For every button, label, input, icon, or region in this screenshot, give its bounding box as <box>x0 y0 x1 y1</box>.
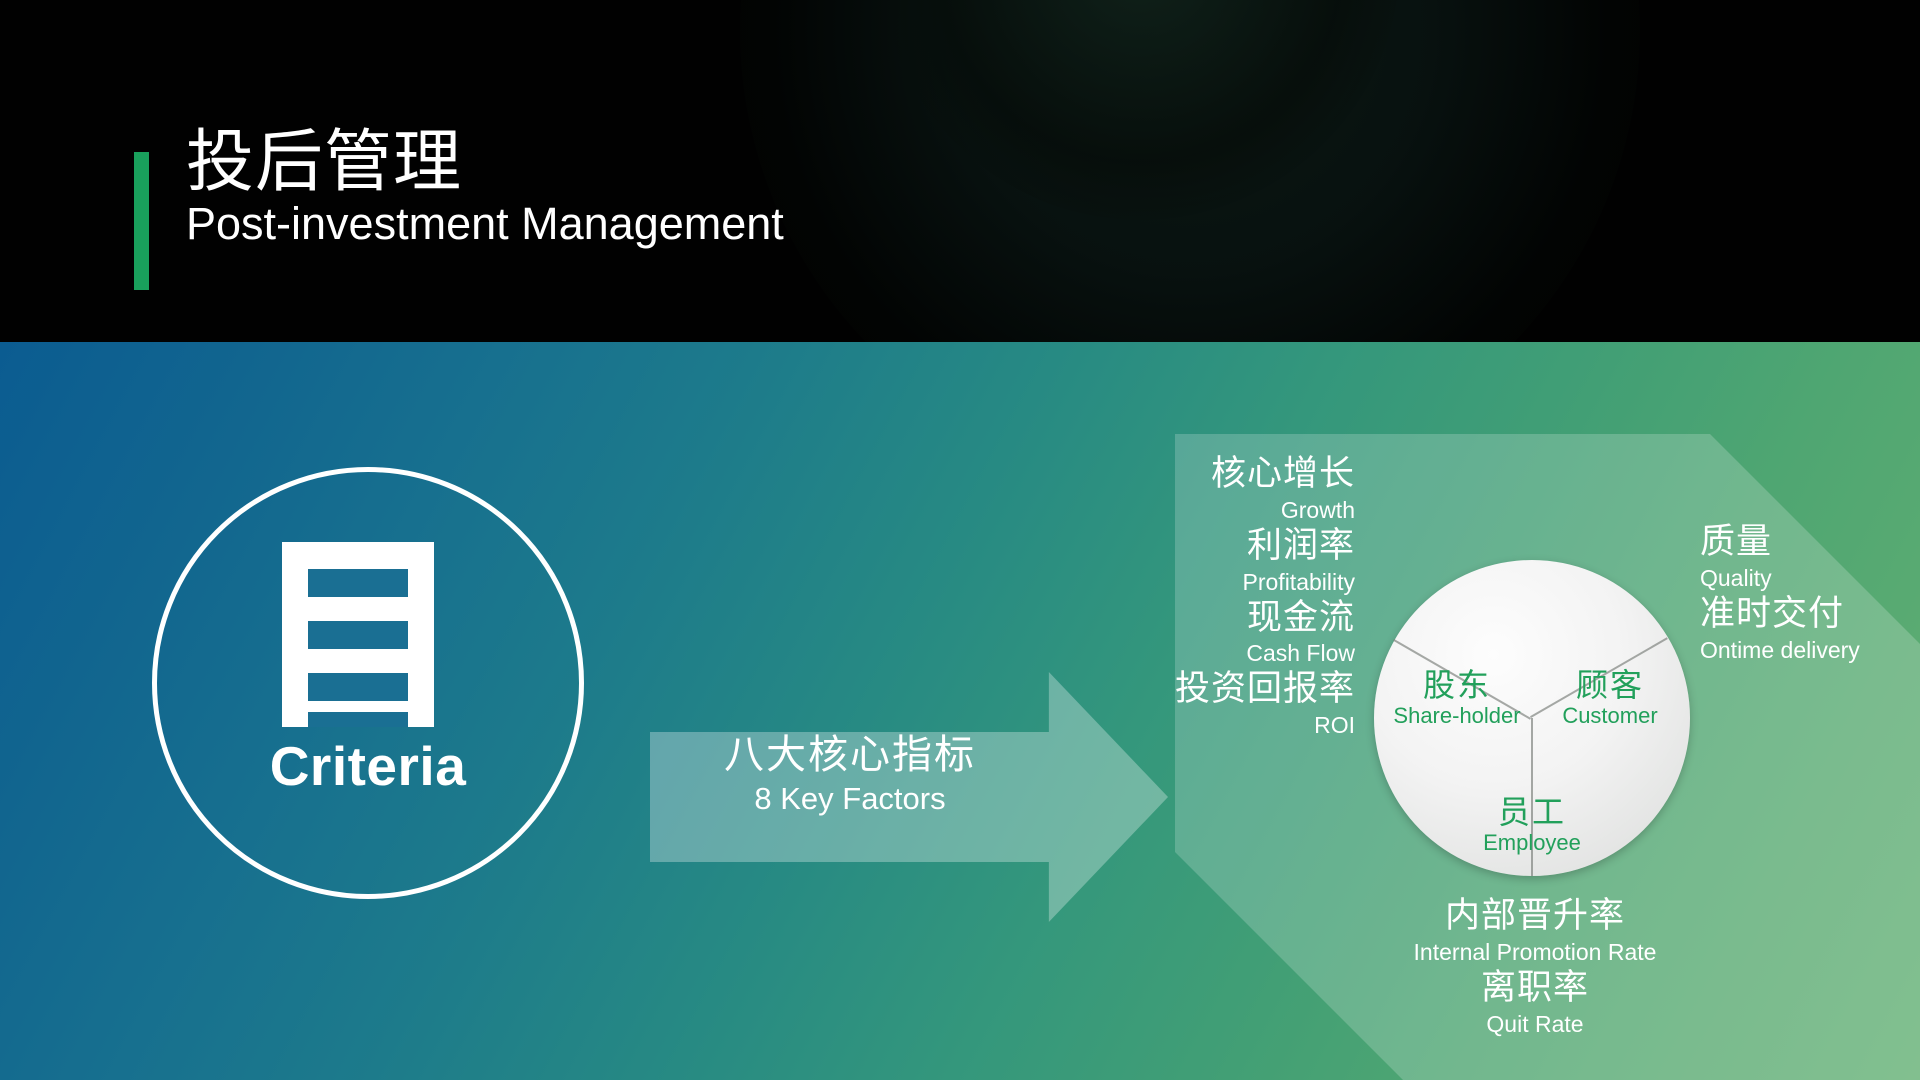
label-cn: 利润率 <box>1000 524 1355 568</box>
arrow-text-cn: 八大核心指标 <box>650 732 1050 778</box>
pie-slice-shareholder[interactable]: 股东 Share-holder <box>1379 668 1535 728</box>
accent-bar <box>134 152 149 290</box>
arrow-text: 八大核心指标 8 Key Factors <box>650 732 1050 818</box>
stakeholder-pie-chart: 股东 Share-holder 顾客 Customer 员工 Employee <box>1374 560 1690 876</box>
label-en: Internal Promotion Rate <box>1340 938 1730 966</box>
arrow-text-en: 8 Key Factors <box>650 780 1050 817</box>
label-cn: 核心增长 <box>1000 452 1355 496</box>
slice-label-en: Share-holder <box>1379 704 1535 729</box>
label-cn: 内部晋升率 <box>1340 894 1730 938</box>
title-block: 投后管理 Post-investment Management <box>186 128 784 250</box>
ledger-icon <box>282 542 434 727</box>
slice-label-en: Employee <box>1444 831 1620 856</box>
label-en: Profitability <box>1000 568 1355 596</box>
label-cn: 质量 <box>1700 520 1920 564</box>
label-cn: 投资回报率 <box>1000 667 1355 711</box>
slice-label-en: Customer <box>1534 704 1686 729</box>
slide-header: 投后管理 Post-investment Management <box>0 0 1920 342</box>
label-en: ROI <box>1000 711 1355 739</box>
pie-slice-customer[interactable]: 顾客 Customer <box>1534 668 1686 728</box>
label-en: Ontime delivery <box>1700 636 1920 664</box>
label-en: Quality <box>1700 564 1920 592</box>
slice-label-cn: 员工 <box>1444 795 1620 831</box>
slice-label-cn: 顾客 <box>1534 668 1686 704</box>
label-cn: 现金流 <box>1000 596 1355 640</box>
slice-label-cn: 股东 <box>1379 668 1535 704</box>
pie-slice-employee[interactable]: 员工 Employee <box>1444 795 1620 855</box>
customer-metric-labels: 质量 Quality 准时交付 Ontime delivery <box>1700 520 1920 664</box>
label-en: Growth <box>1000 496 1355 524</box>
label-cn: 离职率 <box>1340 966 1730 1010</box>
shareholder-metric-labels: 核心增长 Growth 利润率 Profitability 现金流 Cash F… <box>1000 452 1355 739</box>
page-title-en: Post-investment Management <box>186 199 784 249</box>
label-en: Quit Rate <box>1340 1010 1730 1038</box>
label-cn: 准时交付 <box>1700 592 1920 636</box>
label-en: Cash Flow <box>1000 639 1355 667</box>
criteria-label: Criteria <box>152 734 584 798</box>
employee-metric-labels: 内部晋升率 Internal Promotion Rate 离职率 Quit R… <box>1340 894 1730 1038</box>
slide-body: Criteria 八大核心指标 8 Key Factors 核心增长 Growt… <box>0 342 1920 1080</box>
page-title-cn: 投后管理 <box>186 128 784 197</box>
